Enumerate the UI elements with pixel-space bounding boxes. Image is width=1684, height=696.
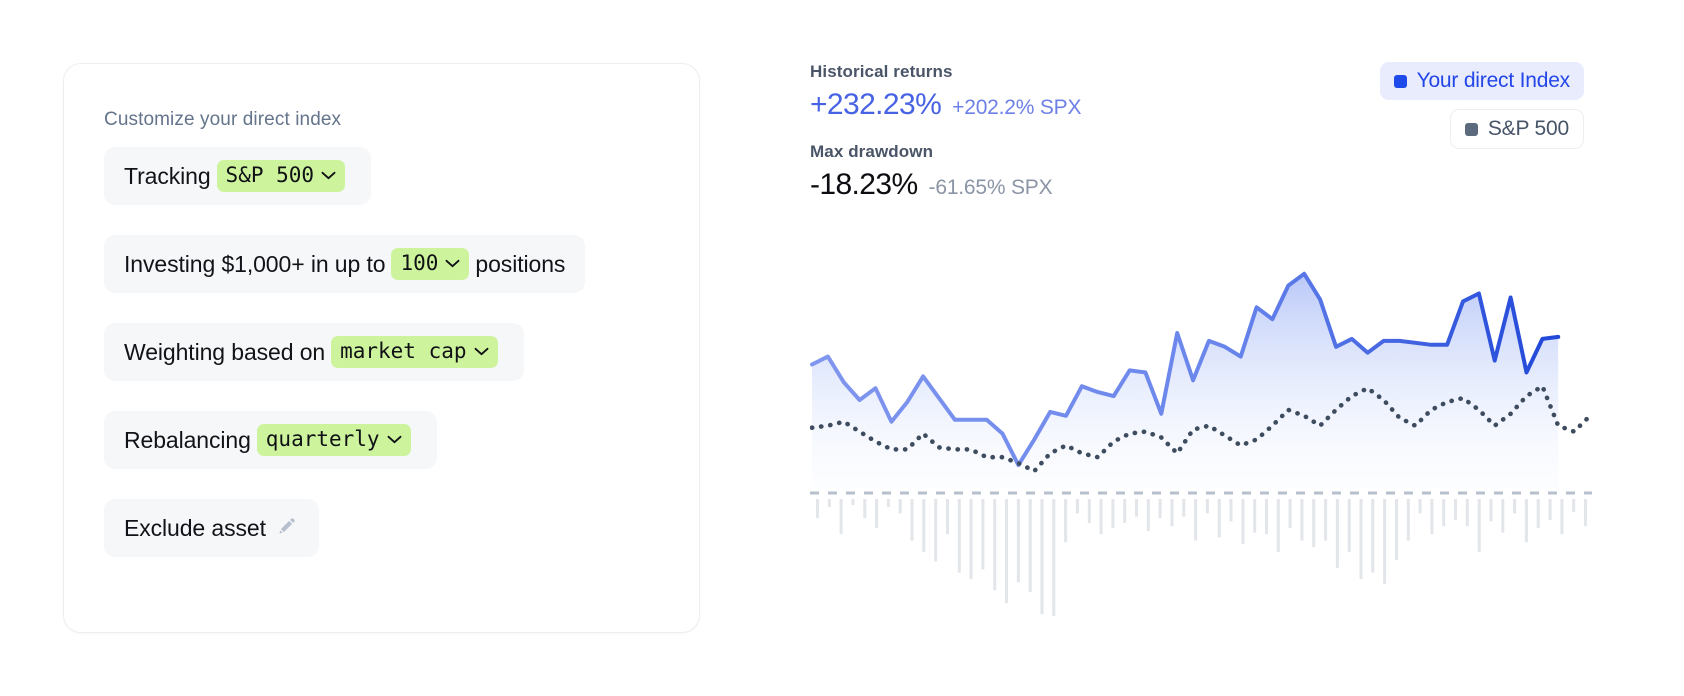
- tracking-dropdown-value: S&P 500: [226, 163, 315, 187]
- drawdown-bar: [1064, 499, 1067, 542]
- chevron-down-icon: [445, 259, 460, 268]
- config-row-exclude-asset[interactable]: Exclude asset: [104, 499, 319, 557]
- drawdown-bar: [887, 499, 890, 507]
- tracking-dropdown[interactable]: S&P 500: [217, 160, 346, 191]
- drawdown-bar: [958, 499, 961, 573]
- drawdown-bar: [1371, 499, 1374, 573]
- drawdown-bar: [1466, 499, 1469, 526]
- config-row-tracking[interactable]: Tracking S&P 500: [104, 147, 371, 205]
- drawdown-bar: [1241, 499, 1244, 544]
- drawdown-bar: [828, 499, 831, 507]
- drawdown-bar: [1111, 499, 1114, 528]
- drawdown-bar: [1348, 499, 1351, 552]
- metrics-block: Historical returns +232.23% +202.2% SPX …: [810, 62, 1081, 202]
- max-drawdown-line: -18.23% -61.65% SPX: [810, 168, 1081, 202]
- drawdown-bar: [1584, 499, 1587, 526]
- drawdown-bar: [911, 499, 914, 541]
- positions-dropdown[interactable]: 100: [391, 248, 469, 279]
- drawdown-bar: [1560, 499, 1563, 534]
- drawdown-bar: [993, 499, 996, 590]
- drawdown-bar: [1419, 499, 1422, 513]
- drawdown-bar: [816, 499, 819, 518]
- config-rows: Tracking S&P 500 Investing $1,000+ in up…: [104, 147, 664, 587]
- drawdown-bar: [1265, 499, 1268, 534]
- drawdown-bar: [1525, 499, 1528, 542]
- drawdown-bar: [1537, 499, 1540, 528]
- legend-item-sp500[interactable]: S&P 500: [1450, 109, 1584, 149]
- drawdown-bar: [1005, 499, 1008, 603]
- drawdown-bar: [1549, 499, 1552, 520]
- config-row-weighting-label: Weighting based on: [124, 339, 325, 366]
- drawdown-bar: [1206, 499, 1209, 513]
- drawdown-bar: [1147, 499, 1150, 531]
- legend-swatch-icon: [1394, 75, 1407, 88]
- drawdown-bar: [1277, 499, 1280, 552]
- drawdown-bar: [1159, 499, 1162, 518]
- historical-returns-value: +232.23%: [810, 88, 941, 122]
- drawdown-bar: [1312, 499, 1315, 547]
- rebalancing-dropdown[interactable]: quarterly: [257, 424, 411, 455]
- chart-legend: Your direct Index S&P 500: [1380, 62, 1584, 149]
- performance-chart: [810, 250, 1592, 636]
- drawdown-bar: [981, 499, 984, 569]
- drawdown-bar: [922, 499, 925, 552]
- config-row-rebalancing[interactable]: Rebalancing quarterly: [104, 411, 437, 469]
- drawdown-bar: [1501, 499, 1504, 533]
- config-row-exclude-asset-label: Exclude asset: [124, 515, 266, 542]
- drawdown-bar: [899, 499, 902, 513]
- drawdown-bar: [1478, 499, 1481, 552]
- config-row-positions-label: Investing $1,000+ in up to: [124, 251, 385, 278]
- drawdown-bar: [1029, 499, 1032, 592]
- config-row-rebalancing-label: Rebalancing: [124, 427, 251, 454]
- drawdown-bar: [946, 499, 949, 534]
- drawdown-bar: [1052, 499, 1055, 616]
- historical-returns-line: +232.23% +202.2% SPX: [810, 88, 1081, 122]
- drawdown-bar: [851, 499, 854, 505]
- drawdown-bar: [863, 499, 866, 518]
- legend-swatch-icon: [1465, 123, 1478, 136]
- chevron-down-icon: [321, 171, 336, 180]
- drawdown-bar: [875, 499, 878, 528]
- max-drawdown-label: Max drawdown: [810, 142, 1081, 162]
- drawdown-bar: [1253, 499, 1256, 533]
- drawdown-bar: [970, 499, 973, 579]
- customize-index-card: Customize your direct index Tracking S&P…: [63, 63, 700, 633]
- chart-canvas: [810, 250, 1592, 636]
- drawdown-bar: [1088, 499, 1091, 523]
- drawdown-bar: [840, 499, 843, 534]
- drawdown-bar: [1490, 499, 1493, 521]
- drawdown-bar: [1383, 499, 1386, 584]
- drawdown-bar: [1100, 499, 1103, 534]
- drawdown-bar: [1572, 499, 1575, 512]
- weighting-dropdown-value: market cap: [340, 339, 466, 363]
- chevron-down-icon: [474, 347, 489, 356]
- drawdown-bars: [816, 499, 1587, 616]
- positions-dropdown-value: 100: [400, 251, 438, 275]
- chevron-down-icon: [387, 435, 402, 444]
- drawdown-bar: [1513, 499, 1516, 513]
- drawdown-bar: [1017, 499, 1020, 582]
- card-title: Customize your direct index: [104, 109, 341, 131]
- config-row-positions-suffix: positions: [475, 251, 565, 278]
- legend-item-sp500-label: S&P 500: [1488, 117, 1569, 141]
- drawdown-bar: [1076, 499, 1079, 513]
- rebalancing-dropdown-value: quarterly: [266, 427, 380, 451]
- drawdown-bar: [1171, 499, 1174, 526]
- drawdown-bar: [1360, 499, 1363, 579]
- drawdown-bar: [1218, 499, 1221, 537]
- drawdown-bar: [1182, 499, 1185, 517]
- drawdown-bar: [1230, 499, 1233, 521]
- page-root: Customize your direct index Tracking S&P…: [0, 0, 1684, 696]
- max-drawdown-benchmark: -61.65% SPX: [929, 176, 1053, 200]
- legend-item-direct-index[interactable]: Your direct Index: [1380, 62, 1584, 100]
- drawdown-bar: [1442, 499, 1445, 526]
- drawdown-bar: [1407, 499, 1410, 541]
- config-row-positions[interactable]: Investing $1,000+ in up to 100 positions: [104, 235, 585, 293]
- historical-returns-label: Historical returns: [810, 62, 1081, 82]
- max-drawdown-value: -18.23%: [810, 168, 918, 202]
- drawdown-bar: [1324, 499, 1327, 541]
- legend-item-direct-index-label: Your direct Index: [1417, 69, 1570, 93]
- pencil-icon[interactable]: [275, 514, 299, 543]
- drawdown-bar: [1454, 499, 1457, 520]
- drawdown-bar: [1289, 499, 1292, 528]
- drawdown-bar: [1395, 499, 1398, 560]
- drawdown-bar: [1135, 499, 1138, 517]
- historical-returns-benchmark: +202.2% SPX: [952, 96, 1081, 120]
- weighting-dropdown[interactable]: market cap: [331, 336, 497, 367]
- drawdown-bar: [1041, 499, 1044, 614]
- config-row-weighting[interactable]: Weighting based on market cap: [104, 323, 524, 381]
- drawdown-bar: [1336, 499, 1339, 568]
- drawdown-bar: [1194, 499, 1197, 541]
- drawdown-bar: [934, 499, 937, 561]
- drawdown-bar: [1300, 499, 1303, 541]
- drawdown-bar: [1123, 499, 1126, 523]
- drawdown-bar: [1430, 499, 1433, 534]
- chart-area-fill: [812, 274, 1558, 489]
- config-row-tracking-label: Tracking: [124, 163, 211, 190]
